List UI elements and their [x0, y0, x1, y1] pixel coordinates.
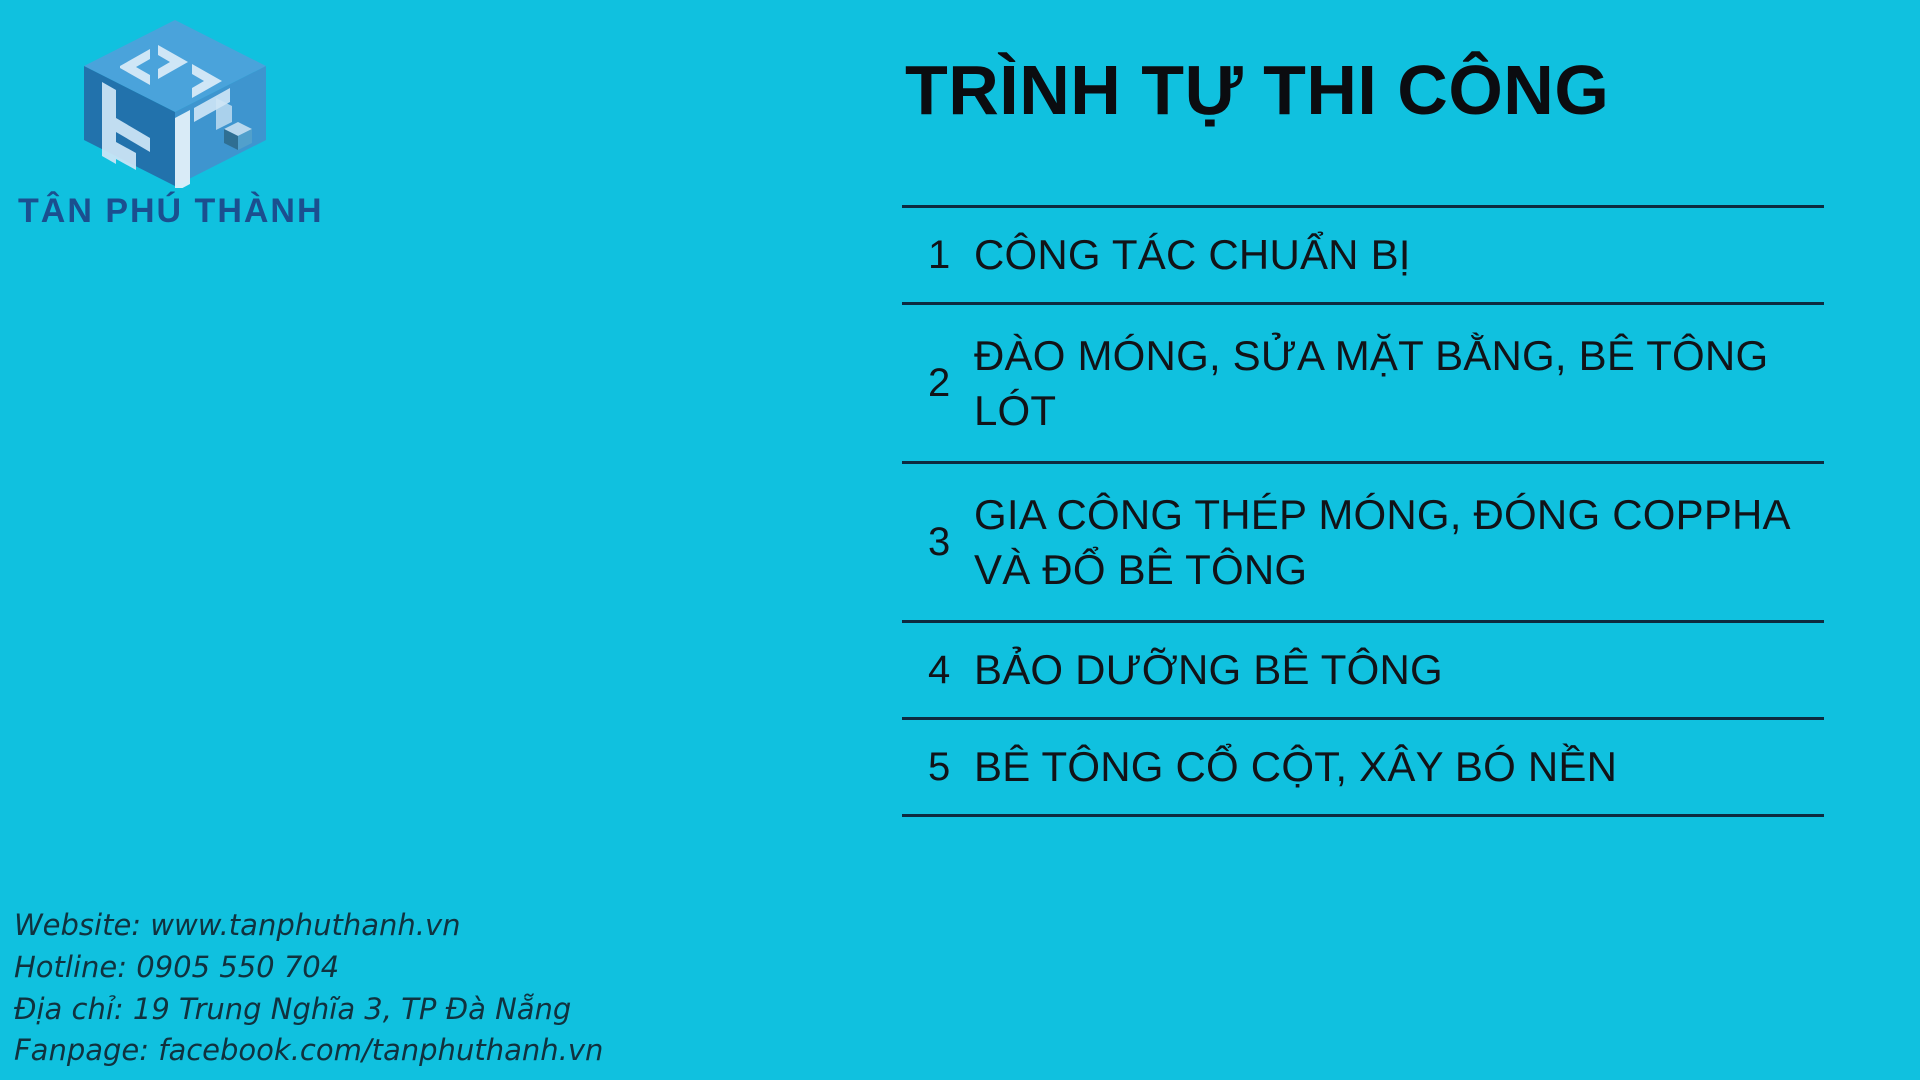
contact-address: Địa chỉ: 19 Trung Nghĩa 3, TP Đà Nẵng [14, 989, 834, 1031]
step-number: 4 [902, 648, 974, 692]
table-row: 5 BÊ TÔNG CỔ CỘT, XÂY BÓ NỀN [902, 720, 1824, 814]
contact-fanpage: Fanpage: facebook.com/tanphuthanh.vn [14, 1030, 834, 1072]
table-row: 4 BẢO DƯỠNG BÊ TÔNG [902, 623, 1824, 717]
construction-sequence-list: 1 CÔNG TÁC CHUẨN BỊ 2 ĐÀO MÓNG, SỬA MẶT … [902, 205, 1824, 817]
contact-hotline: Hotline: 0905 550 704 [14, 947, 834, 989]
contact-website: Website: www.tanphuthanh.vn [14, 905, 834, 947]
page-title: TRÌNH TỰ THI CÔNG [905, 52, 1609, 129]
contact-footer: Website: www.tanphuthanh.vn Hotline: 090… [14, 905, 834, 1072]
brand-name-text: TÂN PHÚ THÀNH [18, 194, 348, 228]
slide-canvas: TÂN PHÚ THÀNH TRÌNH TỰ THI CÔNG 1 CÔNG T… [0, 0, 1920, 1080]
step-label: BÊ TÔNG CỔ CỘT, XÂY BÓ NỀN [974, 739, 1824, 794]
table-row: 2 ĐÀO MÓNG, SỬA MẶT BẰNG, BÊ TÔNG LÓT [902, 305, 1824, 461]
step-number: 2 [902, 361, 974, 405]
brand-logo-block: TÂN PHÚ THÀNH [18, 18, 348, 228]
step-label: CÔNG TÁC CHUẨN BỊ [974, 227, 1824, 282]
step-number: 3 [902, 520, 974, 564]
step-label: BẢO DƯỠNG BÊ TÔNG [974, 642, 1824, 697]
step-label: GIA CÔNG THÉP MÓNG, ĐÓNG COPPHA VÀ ĐỔ BÊ… [974, 487, 1824, 598]
step-label: ĐÀO MÓNG, SỬA MẶT BẰNG, BÊ TÔNG LÓT [974, 328, 1824, 439]
table-row: 1 CÔNG TÁC CHUẨN BỊ [902, 208, 1824, 302]
list-divider-bottom [902, 814, 1824, 817]
step-number: 5 [902, 745, 974, 789]
step-number: 1 [902, 233, 974, 277]
table-row: 3 GIA CÔNG THÉP MÓNG, ĐÓNG COPPHA VÀ ĐỔ … [902, 464, 1824, 620]
tan-phu-thanh-logo-icon [80, 18, 270, 188]
